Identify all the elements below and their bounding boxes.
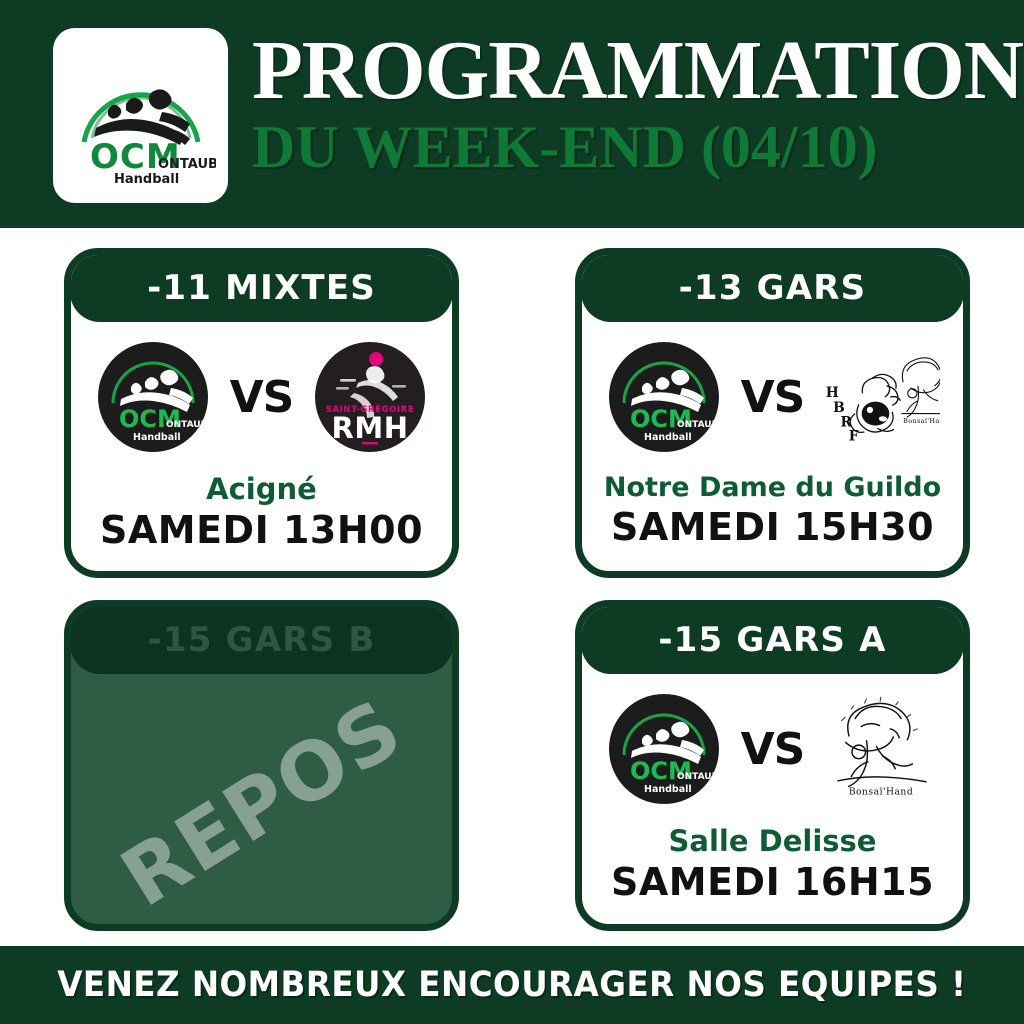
repos-stamp: REPOS [105, 682, 418, 925]
svg-text:ONTAUBAN: ONTAUBAN [166, 420, 209, 430]
away-team-logo: SAINT-GRÉGOIRE RMH [311, 338, 429, 456]
svg-text:Bonsaï'Hand: Bonsaï'Hand [849, 786, 913, 797]
matchup-row: OCM ONTAUBAN Handball VS [71, 322, 452, 466]
svg-text:ONTAUBAN: ONTAUBAN [677, 772, 720, 782]
programmation-poster: OCM ONTAUBAN Handball PROGRAMMATION DU W… [0, 0, 1024, 1024]
poster-footer: VENEZ NOMBREUX ENCOURAGER NOS EQUIPES ! [0, 946, 1024, 1024]
svg-text:RMH: RMH [332, 411, 409, 445]
matchup-row: OCM ONTAUBAN Handball VS H B R F [582, 322, 963, 466]
page-title: PROGRAMMATION [252, 30, 985, 112]
club-logo-card: OCM ONTAUBAN Handball [53, 28, 228, 203]
match-venue: Acigné [71, 472, 452, 506]
card-body: OCM ONTAUBAN Handball VS H B R F [582, 322, 963, 570]
card-body: OCM ONTAUBAN Handball VS [71, 322, 452, 570]
svg-text:Handball: Handball [114, 172, 179, 186]
card-header: -15 GARS A [581, 606, 964, 674]
match-datetime: SAMEDI 16H15 [582, 860, 963, 904]
ocm-badge-icon: OCM ONTAUBAN Handball [608, 341, 720, 453]
home-team-logo: OCM ONTAUBAN Handball [605, 338, 723, 456]
svg-text:ONTAUBAN: ONTAUBAN [677, 420, 720, 430]
svg-text:B: B [833, 400, 845, 416]
home-team-logo: OCM ONTAUBAN Handball [94, 338, 212, 456]
card-category-title: -15 GARS B [148, 620, 376, 660]
vs-label: VS [230, 372, 294, 423]
header-titles: PROGRAMMATION DU WEEK-END (04/10) [252, 30, 992, 179]
svg-text:Bonsaï'Hand: Bonsaï'Hand [904, 417, 941, 425]
card-header: -11 MIXTES [70, 254, 453, 322]
svg-text:F: F [849, 428, 859, 444]
match-card-u11-mixtes[interactable]: -11 MIXTES OCM ONTA [64, 248, 459, 578]
home-team-logo: OCM ONTAUBAN Handball [605, 690, 723, 808]
tree-badge-icon: Bonsaï'Hand [822, 690, 940, 808]
hbrf-badge-icon: H B R F [822, 341, 940, 453]
card-category-title: -13 GARS [679, 268, 867, 308]
svg-text:Handball: Handball [133, 432, 181, 443]
footer-call-to-action: VENEZ NOMBREUX ENCOURAGER NOS EQUIPES ! [57, 965, 966, 1005]
away-team-logo: H B R F [822, 338, 940, 456]
card-body: OCM ONTAUBAN Handball VS [582, 674, 963, 923]
card-body-rest: REPOS [71, 674, 452, 923]
match-venue: Notre Dame du Guildo [582, 472, 963, 503]
svg-text:Handball: Handball [644, 432, 692, 443]
card-category-title: -15 GARS A [658, 620, 886, 660]
match-card-u15-gars-b[interactable]: -15 GARS B REPOS [64, 600, 459, 931]
ocm-badge-icon: OCM ONTAUBAN Handball [97, 341, 209, 453]
match-datetime: SAMEDI 13H00 [71, 508, 452, 552]
svg-text:Handball: Handball [644, 784, 692, 795]
match-venue: Salle Delisse [582, 824, 963, 858]
match-datetime: SAMEDI 15H30 [582, 505, 963, 549]
vs-label: VS [741, 724, 805, 775]
card-header: -15 GARS B [70, 606, 453, 674]
match-card-u15-gars-a[interactable]: -15 GARS A OCM ONTA [575, 600, 970, 931]
matchup-row: OCM ONTAUBAN Handball VS [582, 674, 963, 818]
page-subtitle: DU WEEK-END (04/10) [252, 116, 992, 179]
svg-text:ONTAUBAN: ONTAUBAN [158, 157, 216, 172]
vs-label: VS [741, 372, 805, 423]
card-category-title: -11 MIXTES [147, 268, 376, 308]
match-card-grid: -11 MIXTES OCM ONTA [0, 228, 1024, 946]
ocm-logo-icon: OCM ONTAUBAN Handball [66, 46, 216, 186]
poster-header: OCM ONTAUBAN Handball PROGRAMMATION DU W… [0, 0, 1024, 228]
away-team-logo: Bonsaï'Hand [822, 690, 940, 808]
rmh-badge-icon: SAINT-GRÉGOIRE RMH [314, 341, 426, 453]
match-card-u13-gars[interactable]: -13 GARS OCM ONTAUB [575, 248, 970, 578]
card-header: -13 GARS [581, 254, 964, 322]
ocm-badge-icon: OCM ONTAUBAN Handball [608, 693, 720, 805]
svg-text:H: H [826, 385, 839, 401]
